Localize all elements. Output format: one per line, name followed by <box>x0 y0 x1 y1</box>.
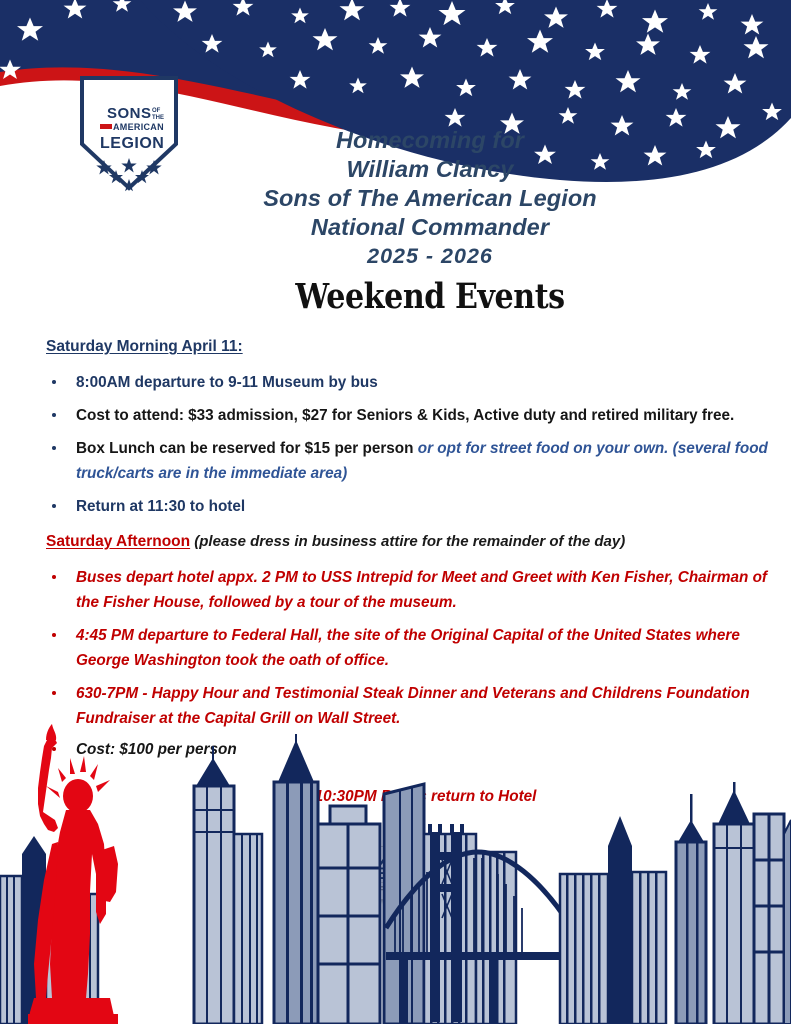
logo-sons-text: SONS <box>107 105 152 122</box>
list-item: 630-7PM - Happy Hour and Testimonial Ste… <box>0 681 791 731</box>
list-item: Box Lunch can be reserved for $15 per pe… <box>0 436 791 486</box>
events-content: Saturday Morning April 11: 8:00AM depart… <box>0 336 791 806</box>
list-item-text: Box Lunch can be reserved for $15 per pe… <box>76 440 414 457</box>
page-title: Weekend Events <box>228 274 632 320</box>
flyer-page: SONS OF THE AMERICAN LEGION Homecoming f… <box>0 0 791 1024</box>
title-years: 2025 - 2026 <box>195 242 665 271</box>
logo-legion-text: LEGION <box>100 135 164 152</box>
saturday-morning-list: 8:00AM departure to 9-11 Museum by bus C… <box>0 370 791 519</box>
section-heading-text: Saturday Morning April 11: <box>46 338 243 355</box>
list-item-text: Cost: $100 per person <box>76 741 237 758</box>
list-item: 8:00AM departure to 9-11 Museum by bus <box>0 370 791 395</box>
logo-of-text: OF <box>152 108 161 114</box>
header-title-block: Homecoming for William Clancy Sons of Th… <box>195 126 665 320</box>
title-line-3: Sons of The American Legion <box>195 184 665 213</box>
list-item: 4:45 PM departure to Federal Hall, the s… <box>0 623 791 673</box>
list-item-text: 4:45 PM departure to Federal Hall, the s… <box>76 627 740 669</box>
logo-the-text: THE <box>152 115 164 121</box>
title-line-1: Homecoming for <box>195 126 665 155</box>
saturday-afternoon-list: Buses depart hotel appx. 2 PM to USS Int… <box>0 565 791 762</box>
section-heading-saturday-morning: Saturday Morning April 11: <box>46 336 791 358</box>
list-item-text: 8:00AM departure to 9-11 Museum by bus <box>76 374 378 391</box>
section-heading-text: Saturday Afternoon <box>46 533 190 550</box>
title-line-4: National Commander <box>195 213 665 242</box>
al-family-legion-text: LEGION <box>364 865 430 883</box>
skyline-buildings-left <box>0 834 98 1024</box>
list-item: Buses depart hotel appx. 2 PM to USS Int… <box>0 565 791 615</box>
list-item: Return at 11:30 to hotel <box>0 494 791 519</box>
list-item: Cost: $100 per person <box>0 737 791 762</box>
list-item-text: Return at 11:30 to hotel <box>76 498 245 515</box>
list-item: Cost to attend: $33 admission, $27 for S… <box>0 403 791 428</box>
american-legion-family-logo-icon: AMERICAN LEGION FAMILY <box>347 846 445 900</box>
al-family-family-text: FAMILY <box>378 885 421 896</box>
sons-of-american-legion-shield-icon: SONS OF THE AMERICAN LEGION <box>74 72 184 194</box>
list-item-text: Buses depart hotel appx. 2 PM to USS Int… <box>76 569 767 611</box>
title-line-2: William Clancy <box>195 155 665 184</box>
list-item-text: Cost to attend: $33 admission, $27 for S… <box>76 407 734 424</box>
closing-note: 10:30PM Buses return to Hotel <box>60 788 791 806</box>
section-heading-saturday-afternoon: Saturday Afternoon (please dress in busi… <box>46 531 791 553</box>
logo-american-text: AMERICAN <box>113 122 164 132</box>
skyline-buildings-right <box>560 782 791 1024</box>
section-heading-note: (please dress in business attire for the… <box>190 533 625 550</box>
list-item-text: 630-7PM - Happy Hour and Testimonial Ste… <box>76 685 750 727</box>
